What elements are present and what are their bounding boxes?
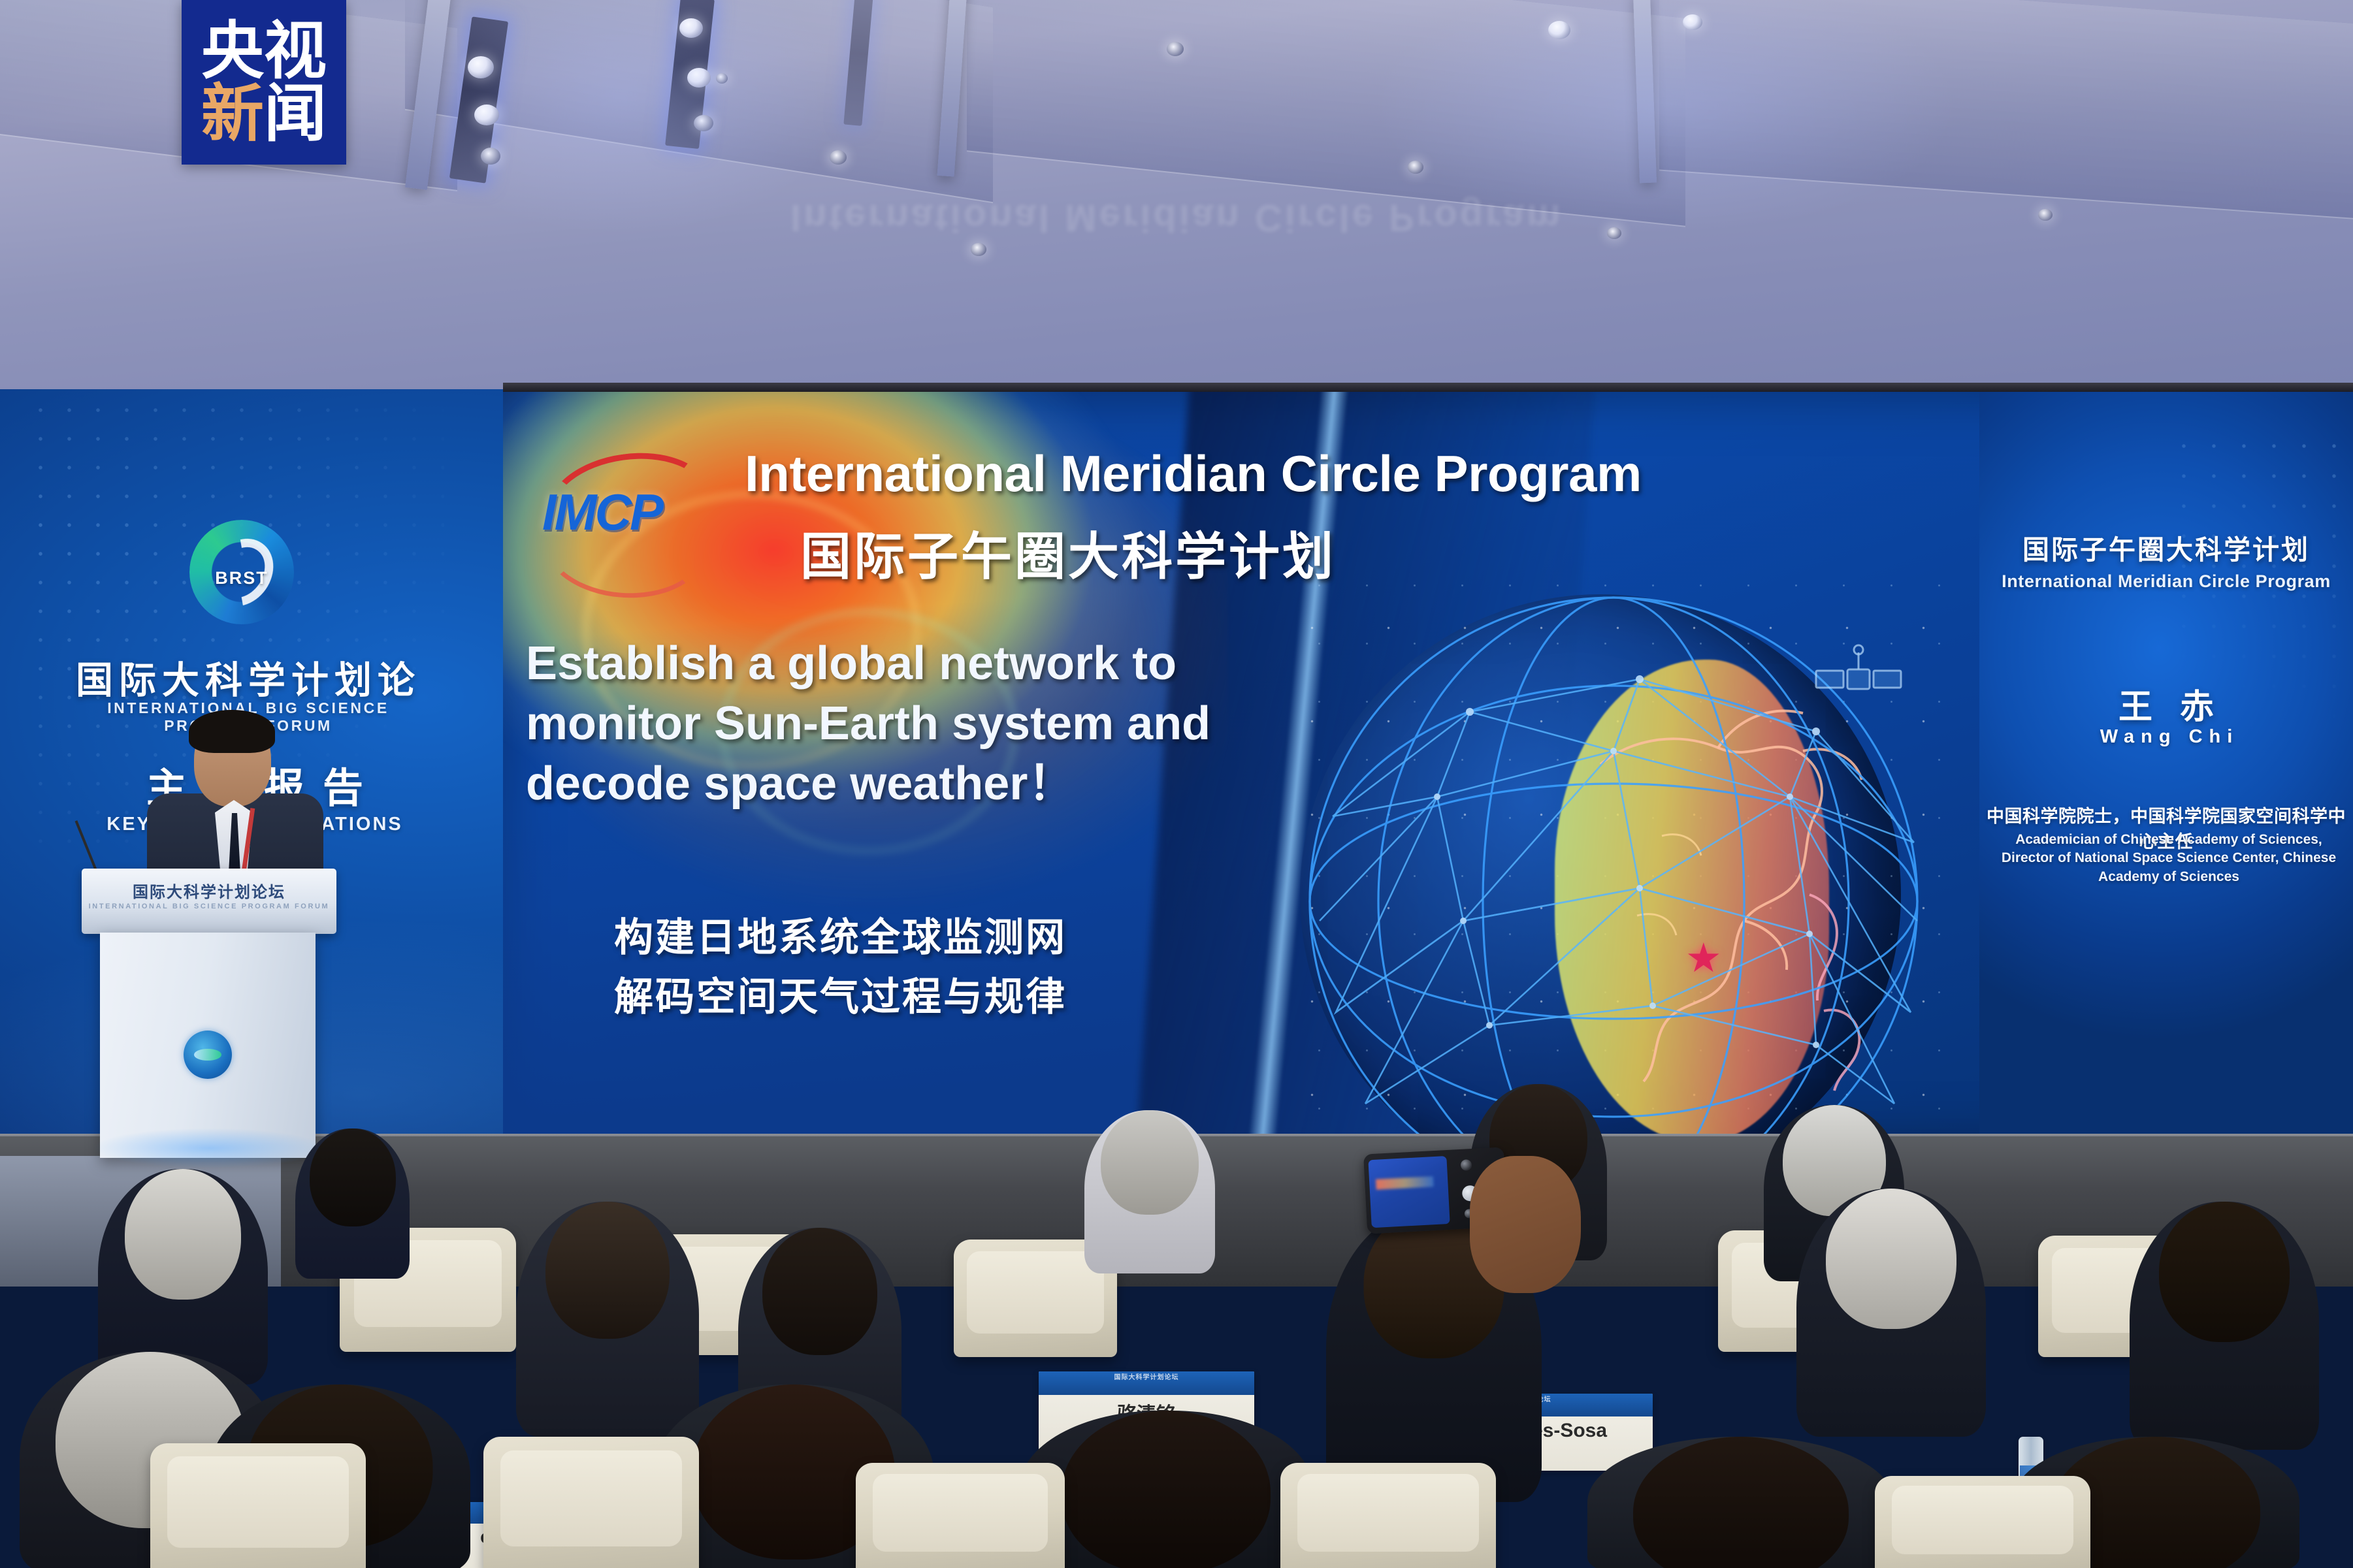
ceiling-spotlight bbox=[716, 73, 728, 84]
chair bbox=[483, 1437, 699, 1568]
presenter-hair bbox=[189, 710, 275, 753]
person-head bbox=[762, 1228, 877, 1355]
panel-program-title-en: International Meridian Circle Program bbox=[1979, 571, 2353, 592]
speaker-role-en-line1: Academician of Chinese Academy of Scienc… bbox=[1985, 831, 2353, 849]
chair bbox=[1875, 1476, 2090, 1568]
speaker-name-cn: 王赤 bbox=[1979, 679, 2353, 728]
ceiling-spotlight bbox=[481, 148, 500, 165]
watermark-char-yang: 央 bbox=[201, 20, 264, 82]
ceiling-spotlight bbox=[1408, 161, 1423, 174]
chair bbox=[1280, 1463, 1496, 1568]
chair bbox=[856, 1463, 1065, 1568]
ceiling-spotlight bbox=[971, 243, 986, 256]
watermark-line-2: 新 闻 bbox=[201, 82, 327, 145]
person-head bbox=[545, 1202, 670, 1339]
watermark-line-1: 央 视 bbox=[201, 20, 327, 82]
chair-cushion bbox=[873, 1474, 1048, 1552]
watermark-char-xin: 新 bbox=[201, 82, 264, 145]
watermark-char-wen: 闻 bbox=[264, 82, 327, 145]
camera-lens-icon bbox=[1461, 1159, 1472, 1171]
ceiling-spotlight bbox=[468, 56, 494, 78]
panel-program-title-cn: 国际子午圈大科学计划 bbox=[1979, 528, 2353, 567]
ceiling-spotlight bbox=[1548, 21, 1570, 39]
chair-cushion bbox=[967, 1251, 1104, 1334]
speaker-role-en-line2: Director of National Space Science Cente… bbox=[1985, 849, 2353, 886]
led-presentation-screen: IMCP International Meridian Circle Progr… bbox=[503, 392, 2353, 1146]
podium-top-plate: 国际大科学计划论坛 INTERNATIONAL BIG SCIENCE PROG… bbox=[82, 869, 336, 934]
ceiling-reflection-text: International Meridian Circle Program bbox=[790, 196, 1563, 240]
ceiling-panel bbox=[967, 0, 1685, 227]
person-head bbox=[125, 1169, 241, 1300]
satellite-icon bbox=[1809, 643, 1907, 715]
podium-plate-text-en: INTERNATIONAL BIG SCIENCE PROGRAM FORUM bbox=[82, 903, 336, 910]
ceiling-spotlight bbox=[1683, 14, 1702, 30]
photographer-hand bbox=[1470, 1156, 1581, 1293]
ceiling-spotlight bbox=[1167, 42, 1184, 56]
speaker-role-en: Academician of Chinese Academy of Scienc… bbox=[1985, 831, 2353, 886]
imcp-logo: IMCP bbox=[542, 454, 728, 552]
brst-label: BRST bbox=[189, 568, 294, 588]
brst-logo: BRST bbox=[189, 520, 294, 624]
audience-person bbox=[2130, 1202, 2319, 1450]
globe-graphic bbox=[1274, 581, 1953, 1146]
speaker-name-en: Wang Chi bbox=[1979, 726, 2353, 748]
chair-cushion bbox=[1892, 1486, 2073, 1554]
person-head bbox=[2159, 1202, 2290, 1342]
ceiling-spotlight bbox=[687, 68, 711, 88]
ceiling-panel bbox=[1659, 0, 2353, 221]
ceiling: International Meridian Circle Program bbox=[0, 0, 2353, 418]
person-head bbox=[1101, 1110, 1199, 1215]
ceiling-spotlight bbox=[830, 150, 847, 165]
ceiling-spotlight bbox=[679, 18, 703, 38]
ceiling-spotlight bbox=[474, 104, 499, 125]
chair-cushion bbox=[167, 1456, 348, 1548]
screen-title-cn: 国际子午圈大科学计划 bbox=[800, 516, 1336, 589]
person-head bbox=[310, 1128, 396, 1226]
screen-headline-cn-line2: 解码空间天气过程与规律 bbox=[614, 967, 1267, 1027]
screen-headline-cn: 构建日地系统全球监测网 解码空间天气过程与规律 bbox=[614, 908, 1267, 1027]
imcp-logo-text: IMCP bbox=[542, 483, 662, 542]
ceiling-spotlight bbox=[2038, 209, 2053, 221]
watermark-char-shi: 视 bbox=[264, 20, 327, 82]
cctv-news-watermark: 央 视 新 闻 bbox=[182, 0, 346, 165]
nameplate-header: 国际大科学计划论坛 bbox=[1039, 1371, 1254, 1395]
conference-photo: International Meridian Circle Program BR… bbox=[0, 0, 2353, 1568]
audience-person bbox=[295, 1128, 410, 1279]
chair-cushion bbox=[1297, 1474, 1478, 1552]
person-head bbox=[1062, 1411, 1271, 1568]
person-head bbox=[1826, 1189, 1956, 1329]
ceiling-spotlight bbox=[1607, 227, 1621, 239]
chair-cushion bbox=[500, 1450, 681, 1546]
screen-headline-cn-line1: 构建日地系统全球监测网 bbox=[614, 908, 1267, 967]
audience-area: 国际大科学计划论坛 骆清铭 国际大科学计划论坛 Pedro Valdés-Sos… bbox=[0, 1071, 2353, 1568]
ceiling-spotlight bbox=[694, 115, 713, 131]
smartphone-screen bbox=[1368, 1156, 1450, 1228]
audience-person bbox=[1796, 1189, 1986, 1437]
podium-plate-text-cn: 国际大科学计划论坛 bbox=[82, 879, 336, 902]
audience-person bbox=[1587, 1437, 1894, 1568]
chair bbox=[150, 1443, 366, 1568]
speaker-info-panel: 国际子午圈大科学计划 International Meridian Circle… bbox=[1979, 392, 2353, 1146]
audience-person bbox=[1084, 1110, 1215, 1273]
screen-title-en: International Meridian Circle Program bbox=[745, 444, 1642, 504]
screen-headline-en: Establish a global network to monitor Su… bbox=[526, 633, 1310, 814]
